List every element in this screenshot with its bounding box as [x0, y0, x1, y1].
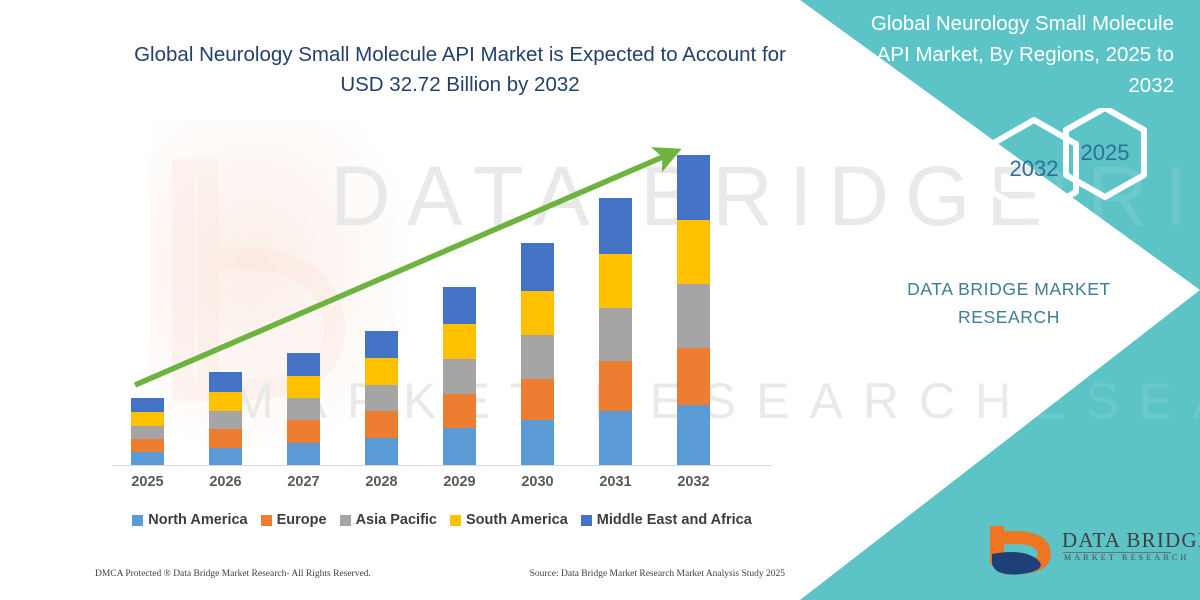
x-axis-label-2029: 2029: [421, 474, 499, 490]
chart-plot-area: 20252026202720282029203020312032: [0, 0, 800, 600]
bar-segment-asia-pacific: [677, 284, 710, 348]
bar-segment-north-america: [521, 420, 554, 465]
bar-segment-europe: [521, 379, 554, 420]
legend-swatch-icon: [132, 515, 143, 526]
bar-segment-middle-east-and-africa: [599, 198, 632, 254]
bar-segment-north-america: [599, 411, 632, 465]
year-hexagons: 2032 2025: [972, 108, 1172, 238]
panel-brand-text: DATA BRIDGE MARKET RESEARCH: [844, 275, 1174, 331]
legend-label: Asia Pacific: [356, 512, 437, 528]
bar-2032[interactable]: [677, 155, 710, 465]
bar-2028[interactable]: [365, 331, 398, 465]
bar-segment-asia-pacific: [287, 398, 320, 420]
bar-segment-asia-pacific: [365, 385, 398, 412]
legend-label: South America: [466, 512, 568, 528]
bar-2031[interactable]: [599, 198, 632, 465]
bar-segment-middle-east-and-africa: [443, 287, 476, 324]
bar-segment-asia-pacific: [131, 426, 164, 439]
legend-swatch-icon: [340, 515, 351, 526]
bar-segment-north-america: [287, 443, 320, 466]
legend-label: Middle East and Africa: [597, 512, 752, 528]
x-axis-label-2025: 2025: [109, 474, 187, 490]
panel-brand-line-1: DATA BRIDGE MARKET: [844, 275, 1174, 303]
bar-segment-south-america: [365, 358, 398, 385]
bar-segment-middle-east-and-africa: [677, 155, 710, 220]
legend-item-middle-east-and-africa[interactable]: Middle East and Africa: [581, 512, 752, 528]
bar-segment-south-america: [131, 412, 164, 426]
bar-2026[interactable]: [209, 372, 242, 465]
bar-segment-south-america: [677, 220, 710, 284]
bar-segment-middle-east-and-africa: [521, 243, 554, 291]
logo-main-text: DATA BRIDGE: [1062, 528, 1200, 553]
legend-swatch-icon: [581, 515, 592, 526]
x-axis-label-2030: 2030: [499, 474, 577, 490]
x-axis-label-2031: 2031: [577, 474, 655, 490]
bar-segment-asia-pacific: [443, 359, 476, 394]
bar-segment-middle-east-and-africa: [131, 398, 164, 412]
panel-brand-line-2: RESEARCH: [844, 303, 1174, 331]
legend-swatch-icon: [450, 515, 461, 526]
legend-item-north-america[interactable]: North America: [132, 512, 247, 528]
bar-segment-north-america: [209, 448, 242, 466]
bar-segment-south-america: [599, 254, 632, 308]
legend-label: North America: [148, 512, 247, 528]
footer: DMCA Protected ® Data Bridge Market Rese…: [95, 569, 785, 579]
bar-segment-europe: [365, 411, 398, 438]
hexagon-2032-label: 2032: [1010, 156, 1059, 181]
bar-segment-north-america: [677, 405, 710, 465]
bar-segment-europe: [131, 439, 164, 453]
bar-2025[interactable]: [131, 398, 164, 465]
chart-legend: North AmericaEuropeAsia PacificSouth Ame…: [112, 512, 772, 528]
bar-segment-europe: [677, 348, 710, 405]
footer-copyright: DMCA Protected ® Data Bridge Market Rese…: [95, 569, 371, 579]
data-bridge-logo: DATA BRIDGE MARKET RESEARCH: [978, 520, 1178, 582]
bar-segment-south-america: [443, 324, 476, 359]
bar-segment-north-america: [131, 452, 164, 465]
bar-segment-asia-pacific: [209, 411, 242, 429]
bar-segment-south-america: [521, 291, 554, 335]
bar-segment-middle-east-and-africa: [365, 331, 398, 358]
bar-segment-middle-east-and-africa: [209, 372, 242, 392]
bar-segment-north-america: [443, 428, 476, 465]
footer-source: Source: Data Bridge Market Research Mark…: [530, 569, 785, 579]
panel-title: Global Neurology Small Molecule API Mark…: [844, 8, 1174, 101]
legend-item-europe[interactable]: Europe: [261, 512, 327, 528]
bar-series-container: [0, 0, 800, 600]
logo-sub-text: MARKET RESEARCH: [1064, 553, 1189, 562]
bar-segment-asia-pacific: [599, 308, 632, 361]
bar-segment-asia-pacific: [521, 335, 554, 379]
legend-label: Europe: [277, 512, 327, 528]
x-axis-label-2027: 2027: [265, 474, 343, 490]
x-axis-label-2032: 2032: [655, 474, 733, 490]
bar-segment-europe: [287, 420, 320, 443]
bar-segment-europe: [599, 361, 632, 411]
bar-segment-north-america: [365, 438, 398, 465]
x-axis-label-2026: 2026: [187, 474, 265, 490]
bar-segment-europe: [443, 394, 476, 428]
legend-item-south-america[interactable]: South America: [450, 512, 568, 528]
bar-2029[interactable]: [443, 287, 476, 465]
legend-swatch-icon: [261, 515, 272, 526]
legend-item-asia-pacific[interactable]: Asia Pacific: [340, 512, 437, 528]
x-axis-label-2028: 2028: [343, 474, 421, 490]
bar-segment-middle-east-and-africa: [287, 353, 320, 376]
bar-segment-south-america: [287, 376, 320, 399]
infographic-root: DATA BRIDGE MARKET RESEARCH Global Neuro…: [0, 0, 1200, 600]
bar-segment-europe: [209, 429, 242, 448]
bar-2030[interactable]: [521, 243, 554, 465]
bar-segment-south-america: [209, 392, 242, 411]
hexagon-2025-label: 2025: [1081, 140, 1130, 165]
bar-2027[interactable]: [287, 353, 320, 465]
